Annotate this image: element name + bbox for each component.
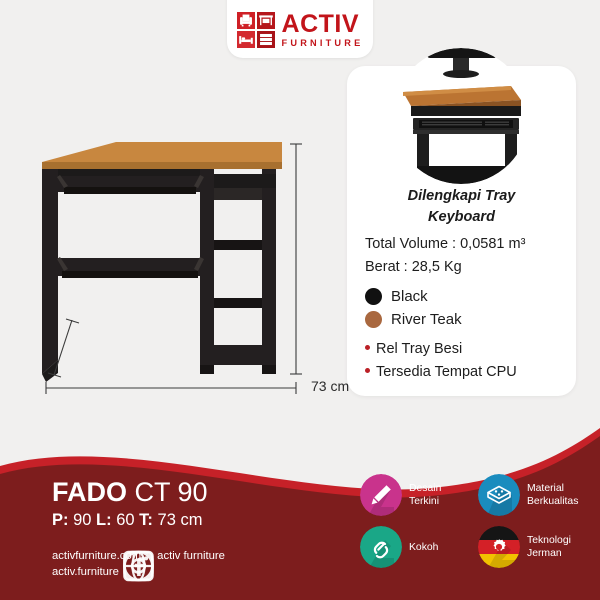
table-icon (257, 12, 275, 29)
bullet-icon (365, 368, 370, 373)
tray-feature-line1: Dilengkapi Tray (347, 186, 576, 207)
brand-wordmark: ACTIV FURNITURE (282, 12, 364, 48)
badge-label-line1: Desain (409, 482, 441, 495)
brand-logo-card: ACTIV FURNITURE (227, 0, 373, 58)
bullet-icon (365, 345, 370, 350)
badge-teknologi-jerman: Teknologi Jerman (478, 526, 588, 568)
color-label: River Teak (391, 311, 462, 328)
dim-t-value: 73 cm (158, 511, 203, 529)
dim-p-value: 90 (73, 511, 91, 529)
weight-text: Berat : 28,5 Kg (365, 259, 462, 275)
instagram-icon (52, 550, 225, 582)
color-label: Black (391, 288, 428, 305)
brand-subtitle: FURNITURE (282, 39, 364, 48)
dim-p-label: P: (52, 511, 69, 529)
badge-label-line1: Material (527, 482, 578, 495)
height-dimension-label: 73 cm (311, 378, 349, 394)
brand-name: ACTIV (282, 12, 364, 37)
badge-label-line1: Kokoh (409, 541, 438, 554)
furniture-grid-icon (237, 12, 275, 48)
advertisement-page: ACTIV FURNITURE (0, 0, 600, 600)
badge-desain-terkini: Desain Terkini (360, 474, 470, 516)
badge-label-line2: Jerman (527, 547, 571, 560)
pencil-icon (360, 474, 402, 516)
badge-material-berkualitas: Material Berkualitas (478, 474, 588, 516)
desk-keyboard-tray-photo (393, 48, 529, 184)
badge-label: Teknologi Jerman (527, 534, 571, 560)
color-swatch-icon (365, 311, 382, 328)
dim-l-value: 60 (116, 511, 134, 529)
badge-label-line2: Berkualitas (527, 495, 578, 508)
product-name-light: CT 90 (135, 477, 208, 507)
brand-logo: ACTIV FURNITURE (237, 12, 364, 48)
badge-label: Kokoh (409, 541, 438, 554)
armchair-icon (237, 12, 255, 29)
social-links: activfurniture.com activ furniture (52, 550, 225, 582)
specification-card: Dilengkapi Tray Keyboard Total Volume : … (347, 66, 576, 396)
badge-label-line2: Terkini (409, 495, 441, 508)
chain-link-icon (360, 526, 402, 568)
feature-label: Tersedia Tempat CPU (376, 364, 517, 380)
product-dimension-drawing: 73 cm 60 cm 90 cm (24, 130, 344, 410)
feature-label: Rel Tray Besi (376, 341, 462, 357)
feature-badges: Desain Terkini (360, 474, 588, 568)
instagram-link[interactable]: activ.furniture (52, 566, 119, 578)
tray-feature-title: Dilengkapi Tray Keyboard (347, 186, 576, 228)
product-title: FADO CT 90 (52, 479, 208, 506)
total-volume-text: Total Volume : 0,0581 m³ (365, 236, 525, 252)
product-name-bold: FADO (52, 477, 127, 507)
feature-item: Rel Tray Besi (365, 341, 462, 357)
color-swatch-icon (365, 288, 382, 305)
bottom-banner: FADO CT 90 P: 90 L: 60 T: 73 cm (0, 422, 600, 600)
dim-l-label: L: (96, 511, 112, 529)
bed-icon (237, 31, 255, 48)
badge-kokoh: Kokoh (360, 526, 470, 568)
german-flag-gear-icon (478, 526, 520, 568)
material-block-icon (478, 474, 520, 516)
badge-label-line1: Teknologi (527, 534, 571, 547)
drawers-icon (257, 31, 275, 48)
badge-label: Material Berkualitas (527, 482, 578, 508)
tray-feature-line2: Keyboard (347, 207, 576, 228)
badge-label: Desain Terkini (409, 482, 441, 508)
feature-item: Tersedia Tempat CPU (365, 364, 517, 380)
product-dimensions: P: 90 L: 60 T: 73 cm (52, 512, 202, 529)
color-option-black: Black (365, 288, 428, 305)
desk-illustration (24, 130, 344, 410)
dim-t-label: T: (139, 511, 153, 529)
color-option-river-teak: River Teak (365, 311, 462, 328)
